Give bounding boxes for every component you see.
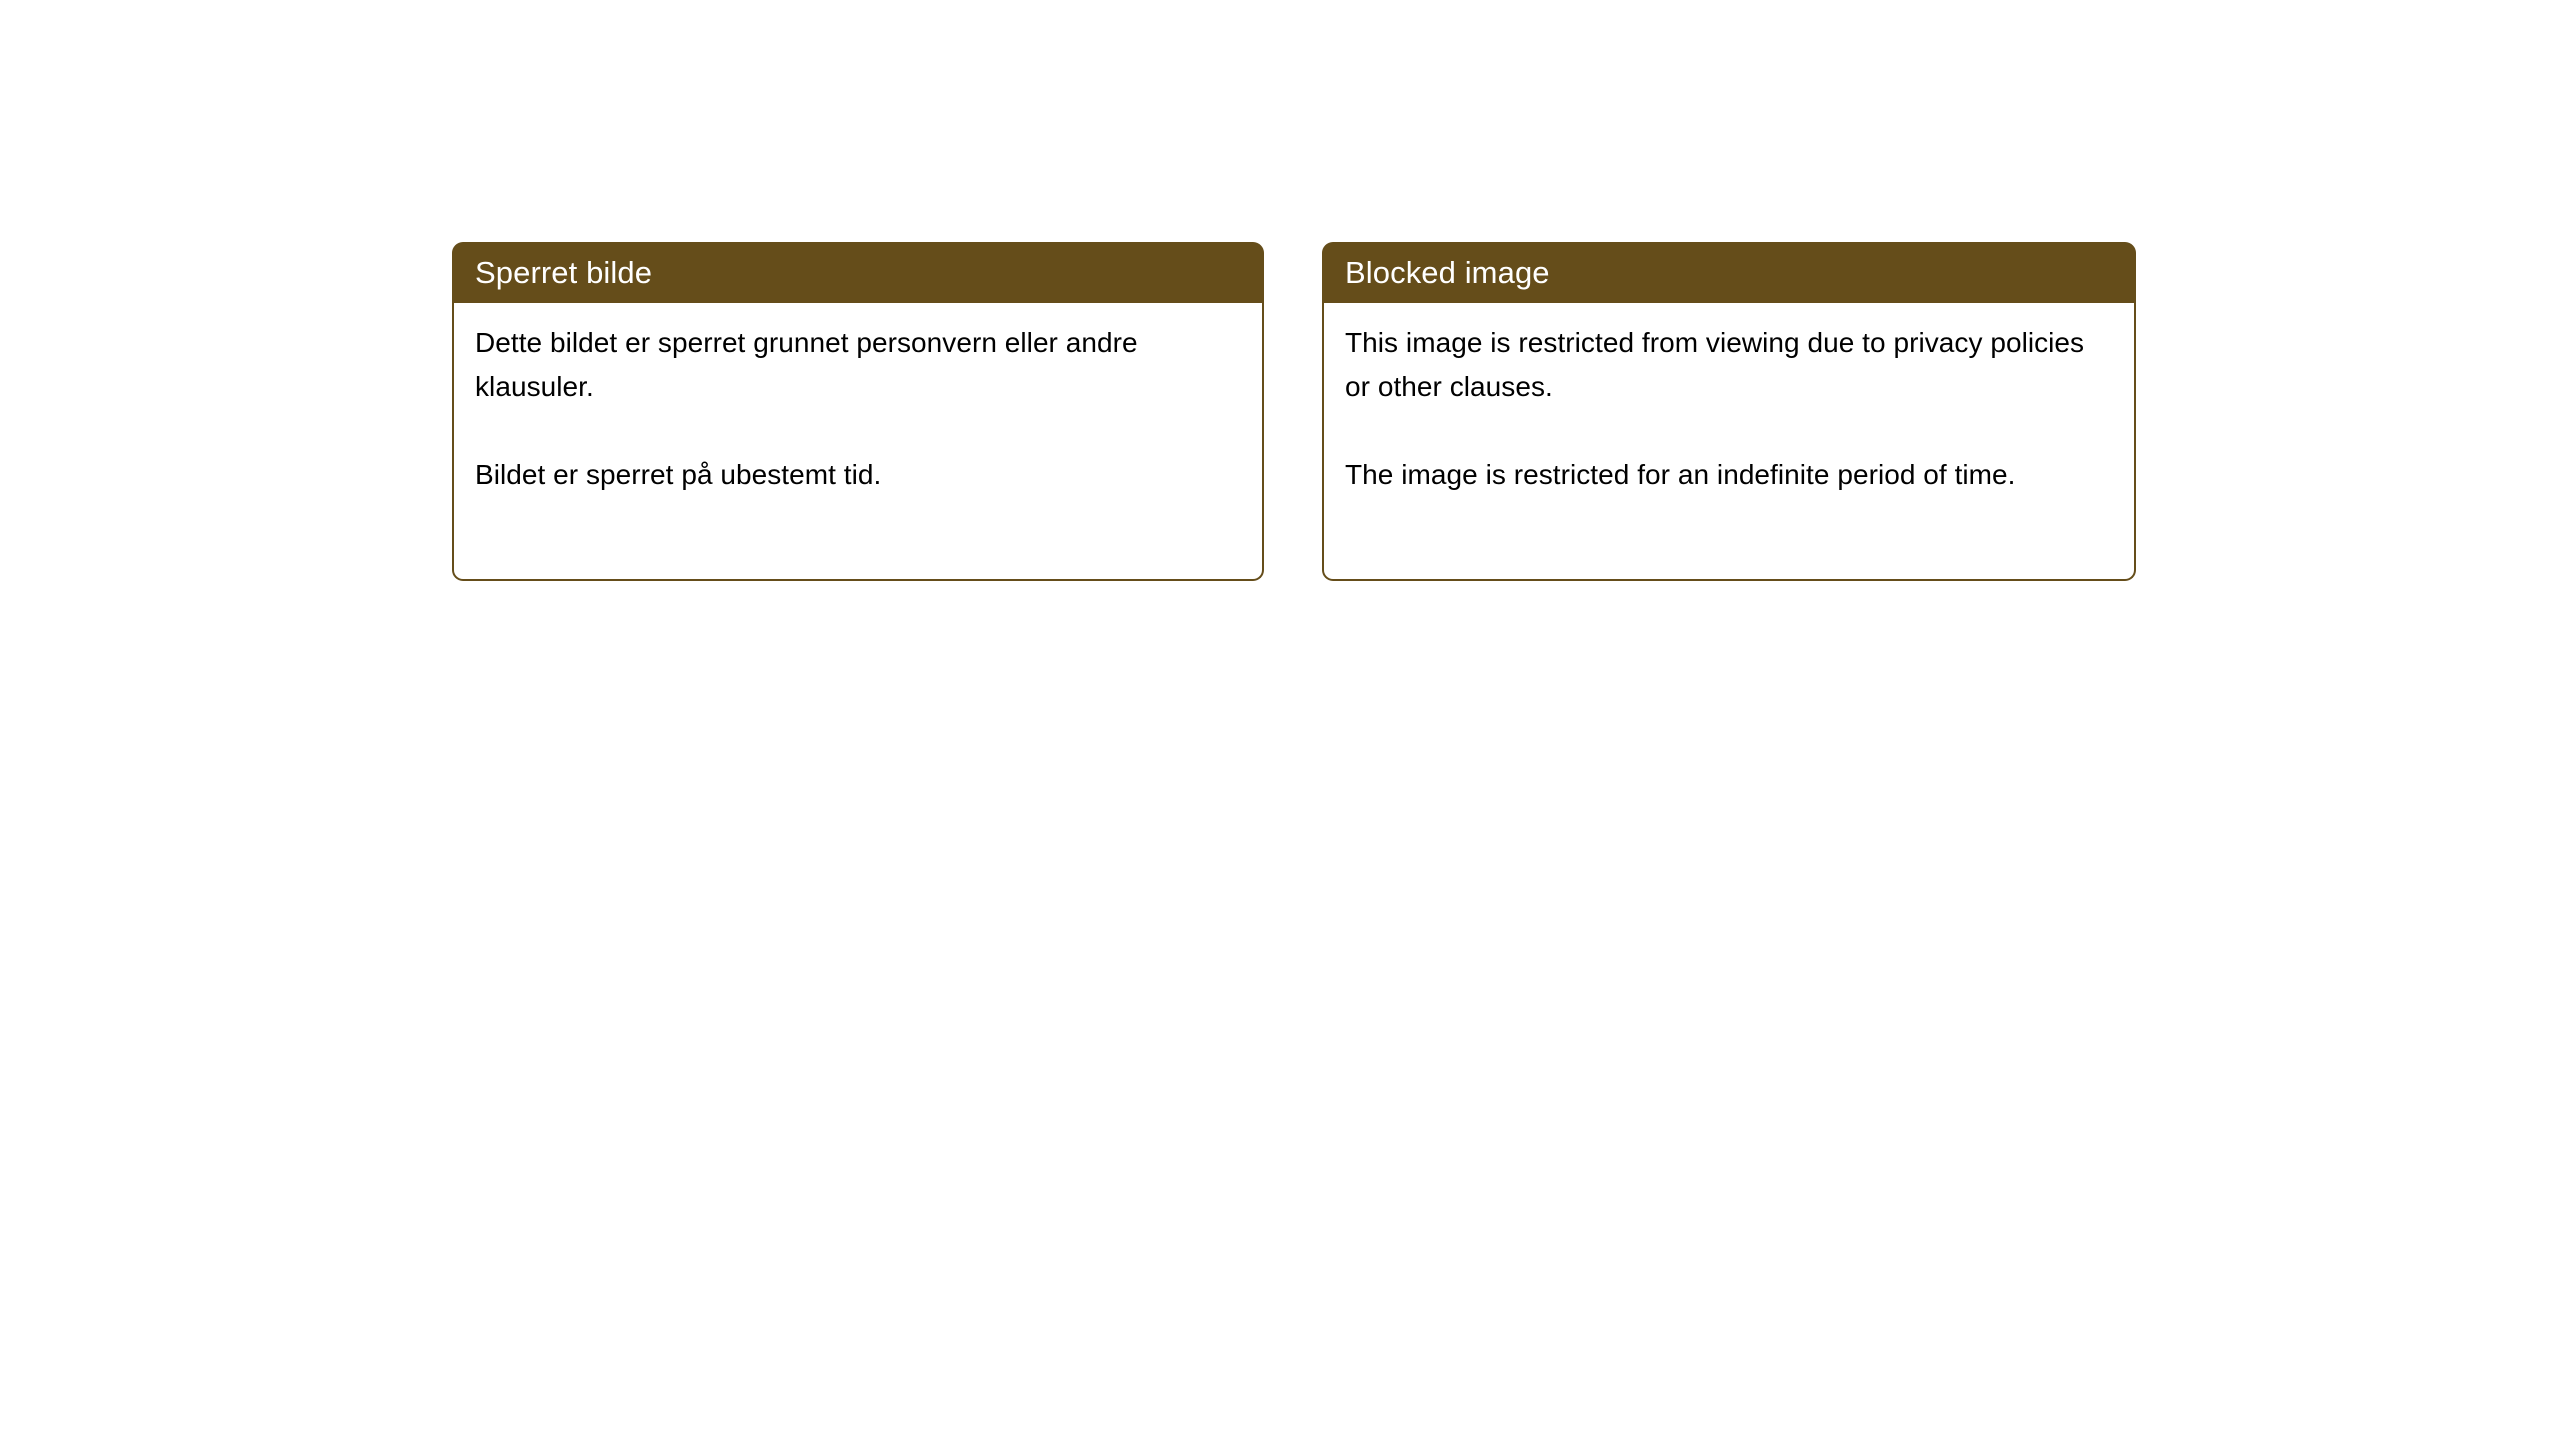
card-body-english: This image is restricted from viewing du… bbox=[1322, 303, 2136, 581]
card-paragraph-duration-norwegian: Bildet er sperret på ubestemt tid. bbox=[475, 453, 1244, 497]
blocked-image-card-english: Blocked image This image is restricted f… bbox=[1322, 242, 2136, 581]
card-header-norwegian: Sperret bilde bbox=[452, 242, 1264, 303]
card-paragraph-privacy-norwegian: Dette bildet er sperret grunnet personve… bbox=[475, 321, 1244, 409]
card-title-english: Blocked image bbox=[1345, 257, 1550, 288]
blocked-image-card-norwegian: Sperret bilde Dette bildet er sperret gr… bbox=[452, 242, 1264, 581]
card-title-norwegian: Sperret bilde bbox=[475, 257, 652, 288]
card-paragraph-privacy-english: This image is restricted from viewing du… bbox=[1345, 321, 2116, 409]
page-canvas: Sperret bilde Dette bildet er sperret gr… bbox=[0, 0, 2560, 1440]
card-header-english: Blocked image bbox=[1322, 242, 2136, 303]
card-paragraph-duration-english: The image is restricted for an indefinit… bbox=[1345, 453, 2116, 497]
card-body-norwegian: Dette bildet er sperret grunnet personve… bbox=[452, 303, 1264, 581]
